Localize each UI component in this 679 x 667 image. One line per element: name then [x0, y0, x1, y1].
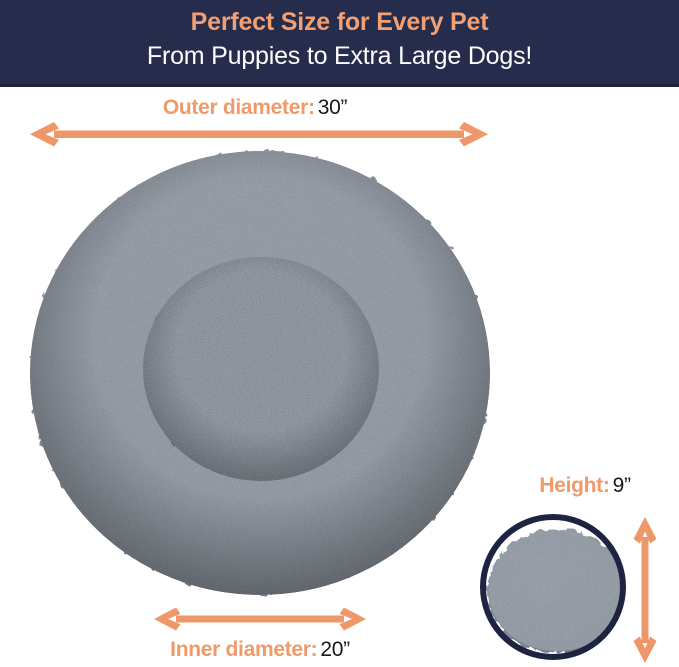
height-arrow-icon	[628, 515, 662, 665]
outer-diameter-value: 30”	[318, 96, 347, 119]
height-label-text: Height:	[539, 474, 609, 497]
outer-diameter-label-text: Outer diameter:	[163, 96, 315, 119]
page-subtitle: From Puppies to Extra Large Dogs!	[0, 41, 679, 71]
inner-diameter-label-text: Inner diameter:	[170, 638, 317, 661]
inner-diameter-label: Inner diameter:20”	[110, 638, 410, 662]
outer-diameter-label: Outer diameter:30”	[0, 96, 510, 120]
outer-diameter-arrow-icon	[28, 118, 490, 150]
pet-bed-top-view-image	[25, 147, 495, 599]
page-title: Perfect Size for Every Pet	[0, 7, 679, 37]
pet-bed-side-view-badge	[477, 508, 629, 667]
height-value: 9”	[613, 474, 631, 497]
inner-diameter-arrow-icon	[152, 604, 368, 634]
header-banner: Perfect Size for Every Pet From Puppies …	[0, 0, 679, 87]
inner-diameter-value: 20”	[320, 638, 349, 661]
height-label: Height:9”	[505, 474, 665, 498]
